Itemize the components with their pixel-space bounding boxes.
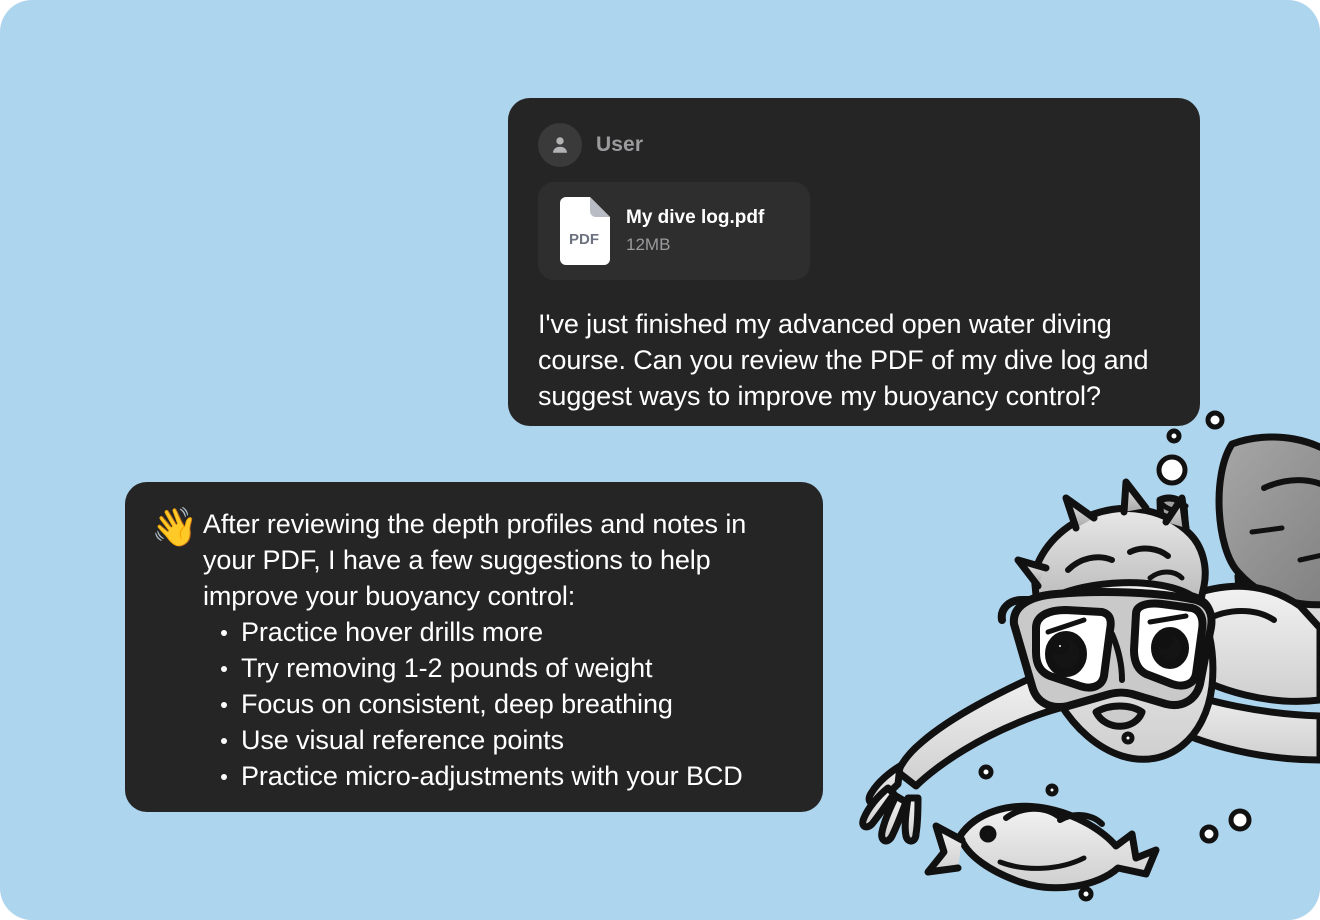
chat-transcript: User PDF My dive log.pdf 12MB I've just … [0, 0, 1320, 920]
assistant-message-body: After reviewing the depth profiles and n… [203, 506, 797, 812]
list-item: Use visual reference points [241, 722, 797, 758]
waving-hand-emoji: 👋 [151, 506, 203, 812]
attachment-file-size: 12MB [626, 235, 764, 255]
list-item: Try removing 1-2 pounds of weight [241, 650, 797, 686]
attachment-file-name: My dive log.pdf [626, 207, 764, 230]
assistant-message-intro: After reviewing the depth profiles and n… [203, 506, 797, 614]
list-item: Practice micro-adjustments with your BCD [241, 758, 797, 794]
suggestion-list: Practice hover drills moreTry removing 1… [203, 614, 797, 794]
list-item: Practice hover drills more [241, 614, 797, 650]
user-message-text: I've just finished my advanced open wate… [538, 306, 1170, 414]
attachment-card[interactable]: PDF My dive log.pdf 12MB [538, 182, 810, 280]
person-icon [549, 134, 571, 156]
message-author: User [596, 133, 643, 157]
assistant-message-bubble: 👋 After reviewing the depth profiles and… [125, 482, 823, 812]
user-message-header: User [538, 122, 1170, 168]
attachment-meta: My dive log.pdf 12MB [626, 207, 764, 255]
user-message-bubble: User PDF My dive log.pdf 12MB I've just … [508, 98, 1200, 426]
avatar [538, 123, 582, 167]
list-item: Focus on consistent, deep breathing [241, 686, 797, 722]
pdf-file-icon: PDF [556, 197, 610, 265]
page-root: User PDF My dive log.pdf 12MB I've just … [0, 0, 1320, 920]
svg-text:PDF: PDF [569, 231, 599, 248]
